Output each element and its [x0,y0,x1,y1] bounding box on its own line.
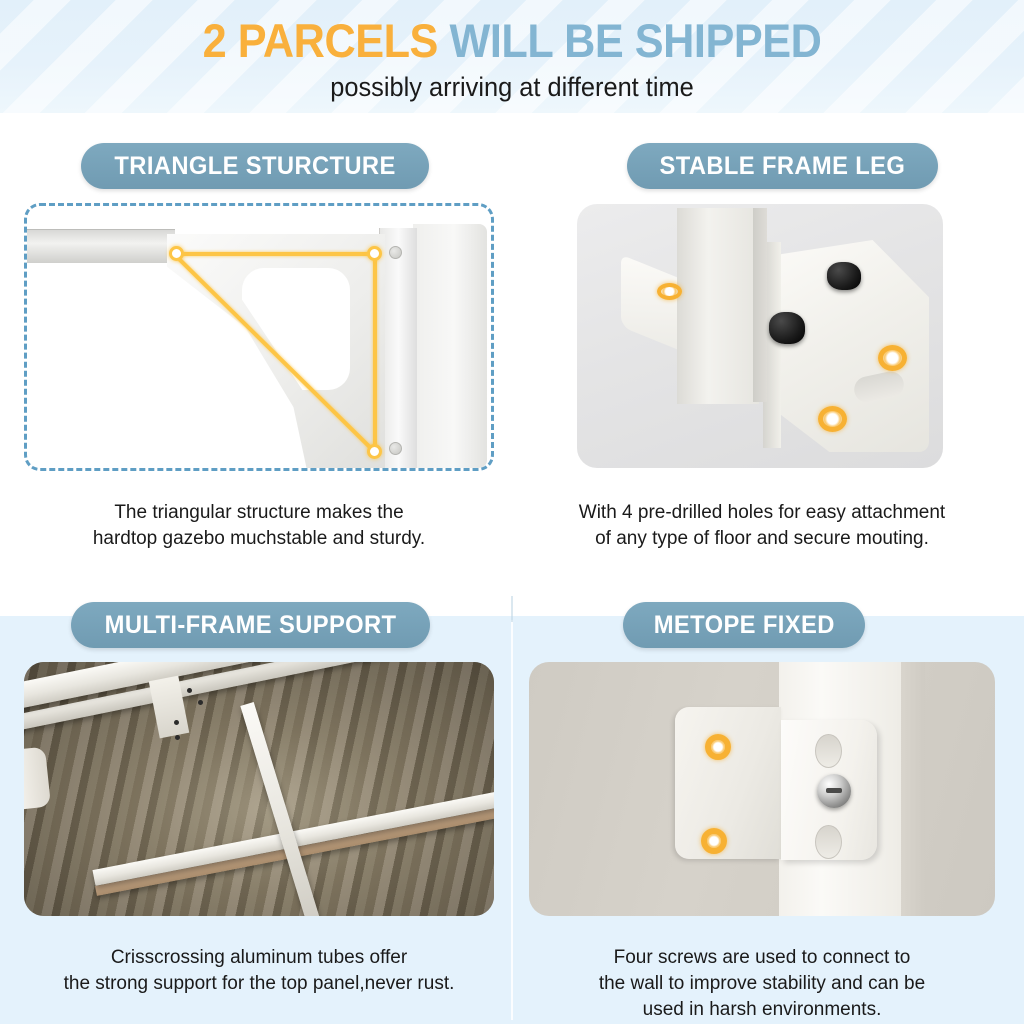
bracket-plate-left [675,707,781,859]
frame-leg-post-edge [753,208,767,402]
column-divider-upper [511,596,513,622]
aluminum-tube [24,229,175,263]
bracket-hole-top [815,734,842,768]
hole-marker-1 [657,283,682,300]
triangle-vertex-top-left [169,246,184,261]
triangle-vertex-top-right [367,246,382,261]
page-title: 2 PARCELS WILL BE SHIPPED [41,16,983,66]
chrome-screw [817,774,851,808]
badge-label: MULTI-FRAME SUPPORT [105,611,397,640]
title-highlight: 2 PARCELS [203,14,438,67]
hole-marker-3 [818,406,847,432]
caption-triangle-structure: The triangular structure makes the hardt… [24,500,494,552]
badge-label: STABLE FRAME LEG [659,152,905,181]
caption-multi-frame-support: Crisscrossing aluminum tubes offer the s… [24,945,494,997]
screw-bottom [389,442,402,455]
connector-bolt-3 [174,720,179,725]
bracket-hole-bottom [815,825,842,859]
triangle-edge-right [373,252,377,452]
title-rest: WILL BE SHIPPED [438,14,821,67]
photo-multi-frame-support [24,662,494,916]
screw-marker-bottom [701,828,727,854]
bolt-lower [769,312,805,344]
column-divider [511,620,513,1020]
wall-column-shadow [901,662,925,916]
infographic-page: 2 PARCELS WILL BE SHIPPED possibly arriv… [0,0,1024,1024]
post-face [413,224,487,468]
screw-marker-top [705,734,731,760]
page-subtitle: possibly arriving at different time [31,71,994,103]
photo-stable-frame-leg [577,204,943,468]
triangle-edge-top [175,252,375,256]
hole-marker-2 [878,345,907,371]
connector-bolt-1 [187,688,192,693]
badge-triangle-structure: TRIANGLE STURCTURE [81,143,429,189]
badge-label: METOPE FIXED [654,611,835,640]
badge-stable-frame-leg: STABLE FRAME LEG [627,143,938,189]
triangle-vertex-bottom [367,444,382,459]
connector-bolt-2 [198,700,203,705]
bolt-upper [827,262,861,290]
connector-bolt-4 [175,735,180,740]
frame-leg-post [677,208,759,404]
badge-metope-fixed: METOPE FIXED [623,602,865,648]
caption-metope-fixed: Four screws are used to connect to the w… [529,945,995,1023]
badge-label: TRIANGLE STURCTURE [114,152,395,181]
photo-triangle-structure [24,203,494,471]
badge-multi-frame-support: MULTI-FRAME SUPPORT [71,602,430,648]
photo-metope-fixed [529,662,995,916]
caption-stable-frame-leg: With 4 pre-drilled holes for easy attach… [529,500,995,552]
header-banner: 2 PARCELS WILL BE SHIPPED possibly arriv… [0,0,1024,113]
screw-top [389,246,402,259]
